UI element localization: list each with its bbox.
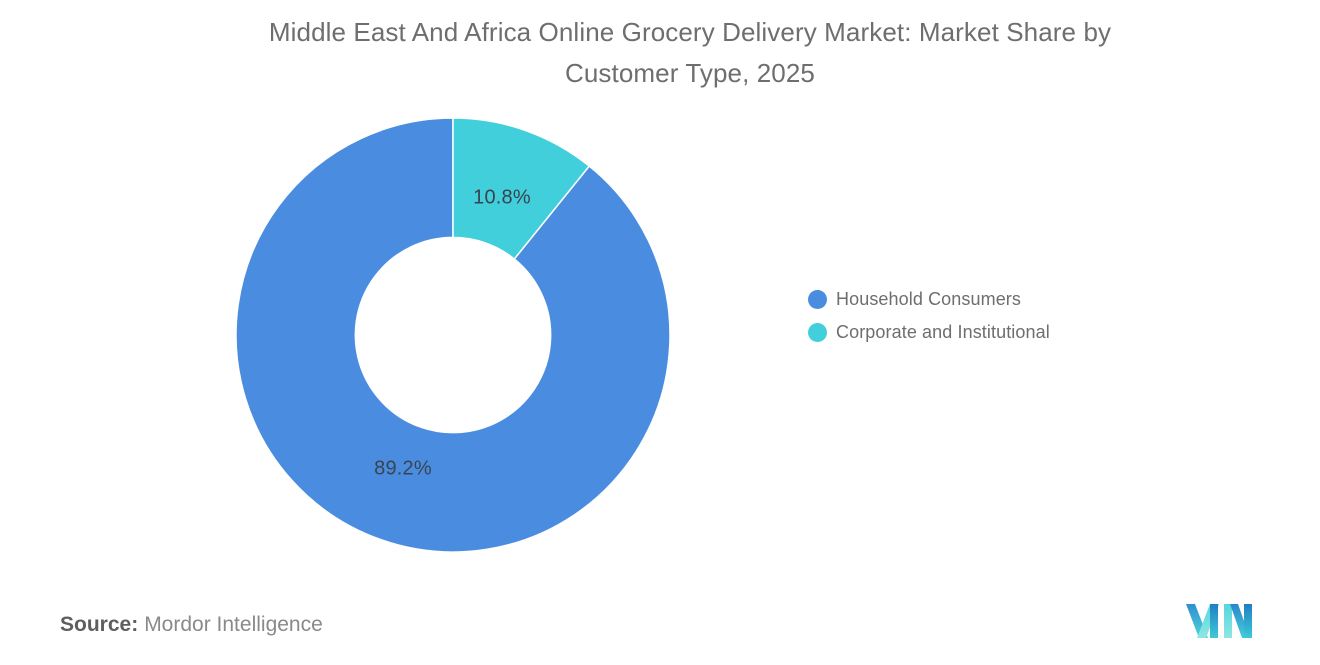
legend-color-swatch-blue-icon <box>808 290 827 309</box>
chart-legend: Household Consumers Corporate and Instit… <box>808 283 1228 349</box>
donut-chart-svg <box>236 118 670 552</box>
mordor-intelligence-logo-svg <box>1184 600 1254 642</box>
donut-chart: 89.2% 10.8% <box>236 118 670 552</box>
source-label: Source: <box>60 613 138 636</box>
legend-color-swatch-teal-icon <box>808 323 827 342</box>
slice-label-household-consumers: 89.2% <box>374 458 432 481</box>
mordor-intelligence-logo-icon <box>1184 600 1254 642</box>
legend-item-corporate-and-institutional[interactable]: Corporate and Institutional <box>808 316 1228 349</box>
chart-title: Middle East And Africa Online Grocery De… <box>180 12 1200 94</box>
chart-title-line-2: Customer Type, 2025 <box>180 53 1200 94</box>
chart-title-line-1: Middle East And Africa Online Grocery De… <box>180 12 1200 53</box>
legend-item-label: Household Consumers <box>836 289 1021 310</box>
source-value: Mordor Intelligence <box>144 613 323 636</box>
slice-label-corporate-and-institutional: 10.8% <box>473 187 531 210</box>
legend-item-label: Corporate and Institutional <box>836 322 1050 343</box>
legend-item-household-consumers[interactable]: Household Consumers <box>808 283 1228 316</box>
source-attribution: Source:Mordor Intelligence <box>60 613 323 637</box>
